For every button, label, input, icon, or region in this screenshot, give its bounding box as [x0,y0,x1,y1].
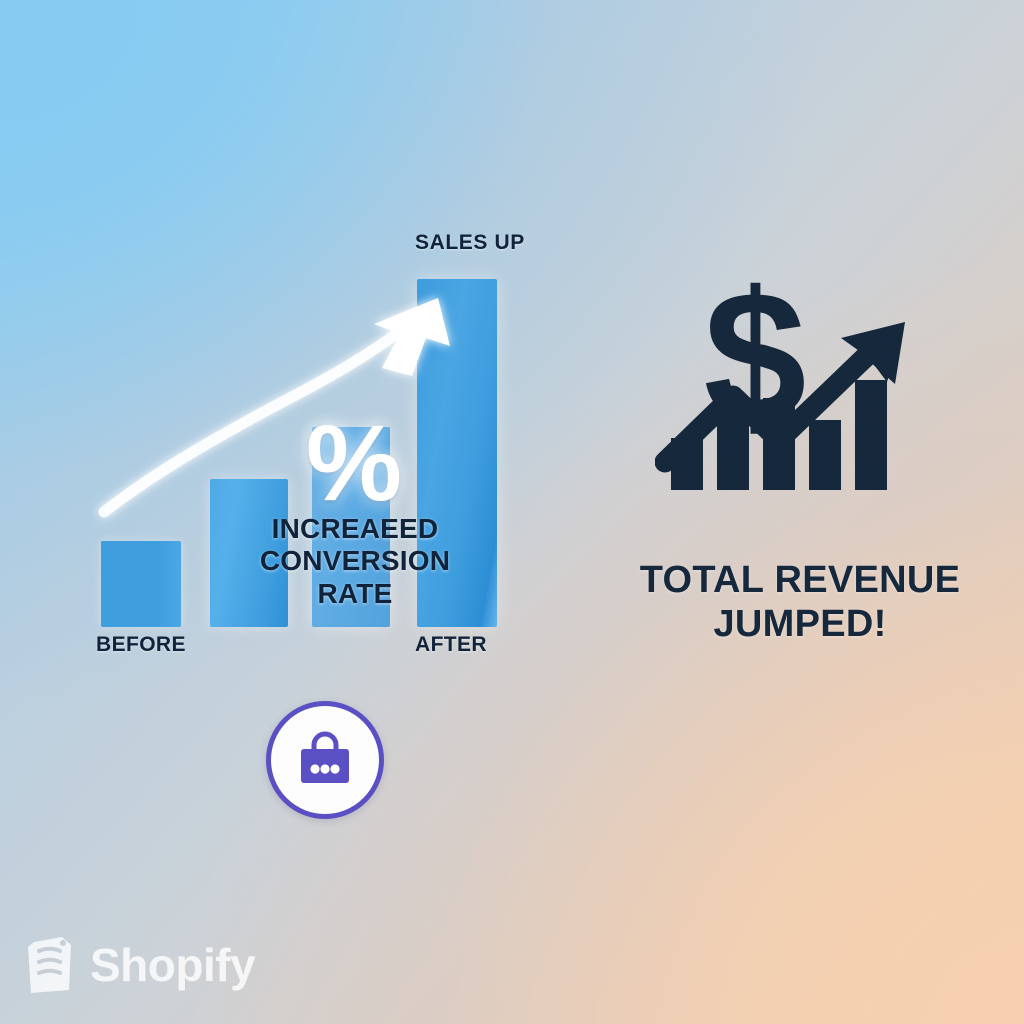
poster-canvas: % INCREAEED CONVERSION RATE SALES UP BEF… [0,0,1024,1024]
revenue-caption: TOTAL REVENUE JUMPED! [600,558,1000,647]
chart-caption-line-1: INCREAEED [210,513,500,545]
revenue-caption-line-1: TOTAL REVENUE [600,558,1000,602]
dollar-growth-chart-icon: $ [655,280,945,540]
shopify-bag-logo-icon [22,934,78,996]
bar-chart-graphic: % INCREAEED CONVERSION RATE SALES UP BEF… [90,225,540,665]
percent-symbol: % [306,409,402,517]
shopify-wordmark: Shopify [90,942,255,988]
shopify-bag-badge[interactable] [266,701,384,819]
bar-before [101,541,181,627]
chart-caption-line-2: CONVERSION [210,545,500,577]
shopify-logo: Shopify [22,934,255,996]
revenue-graphic-block: $ TOTAL REVENUE JUMPED! [600,280,1000,647]
chart-caption: INCREAEED CONVERSION RATE [210,513,500,610]
axis-label-before: BEFORE [96,633,186,657]
shopping-bag-icon [294,729,356,791]
sales-up-label: SALES UP [415,231,525,255]
chart-caption-line-3: RATE [210,578,500,610]
axis-label-after: AFTER [415,633,487,657]
revenue-caption-line-2: JUMPED! [600,602,1000,646]
